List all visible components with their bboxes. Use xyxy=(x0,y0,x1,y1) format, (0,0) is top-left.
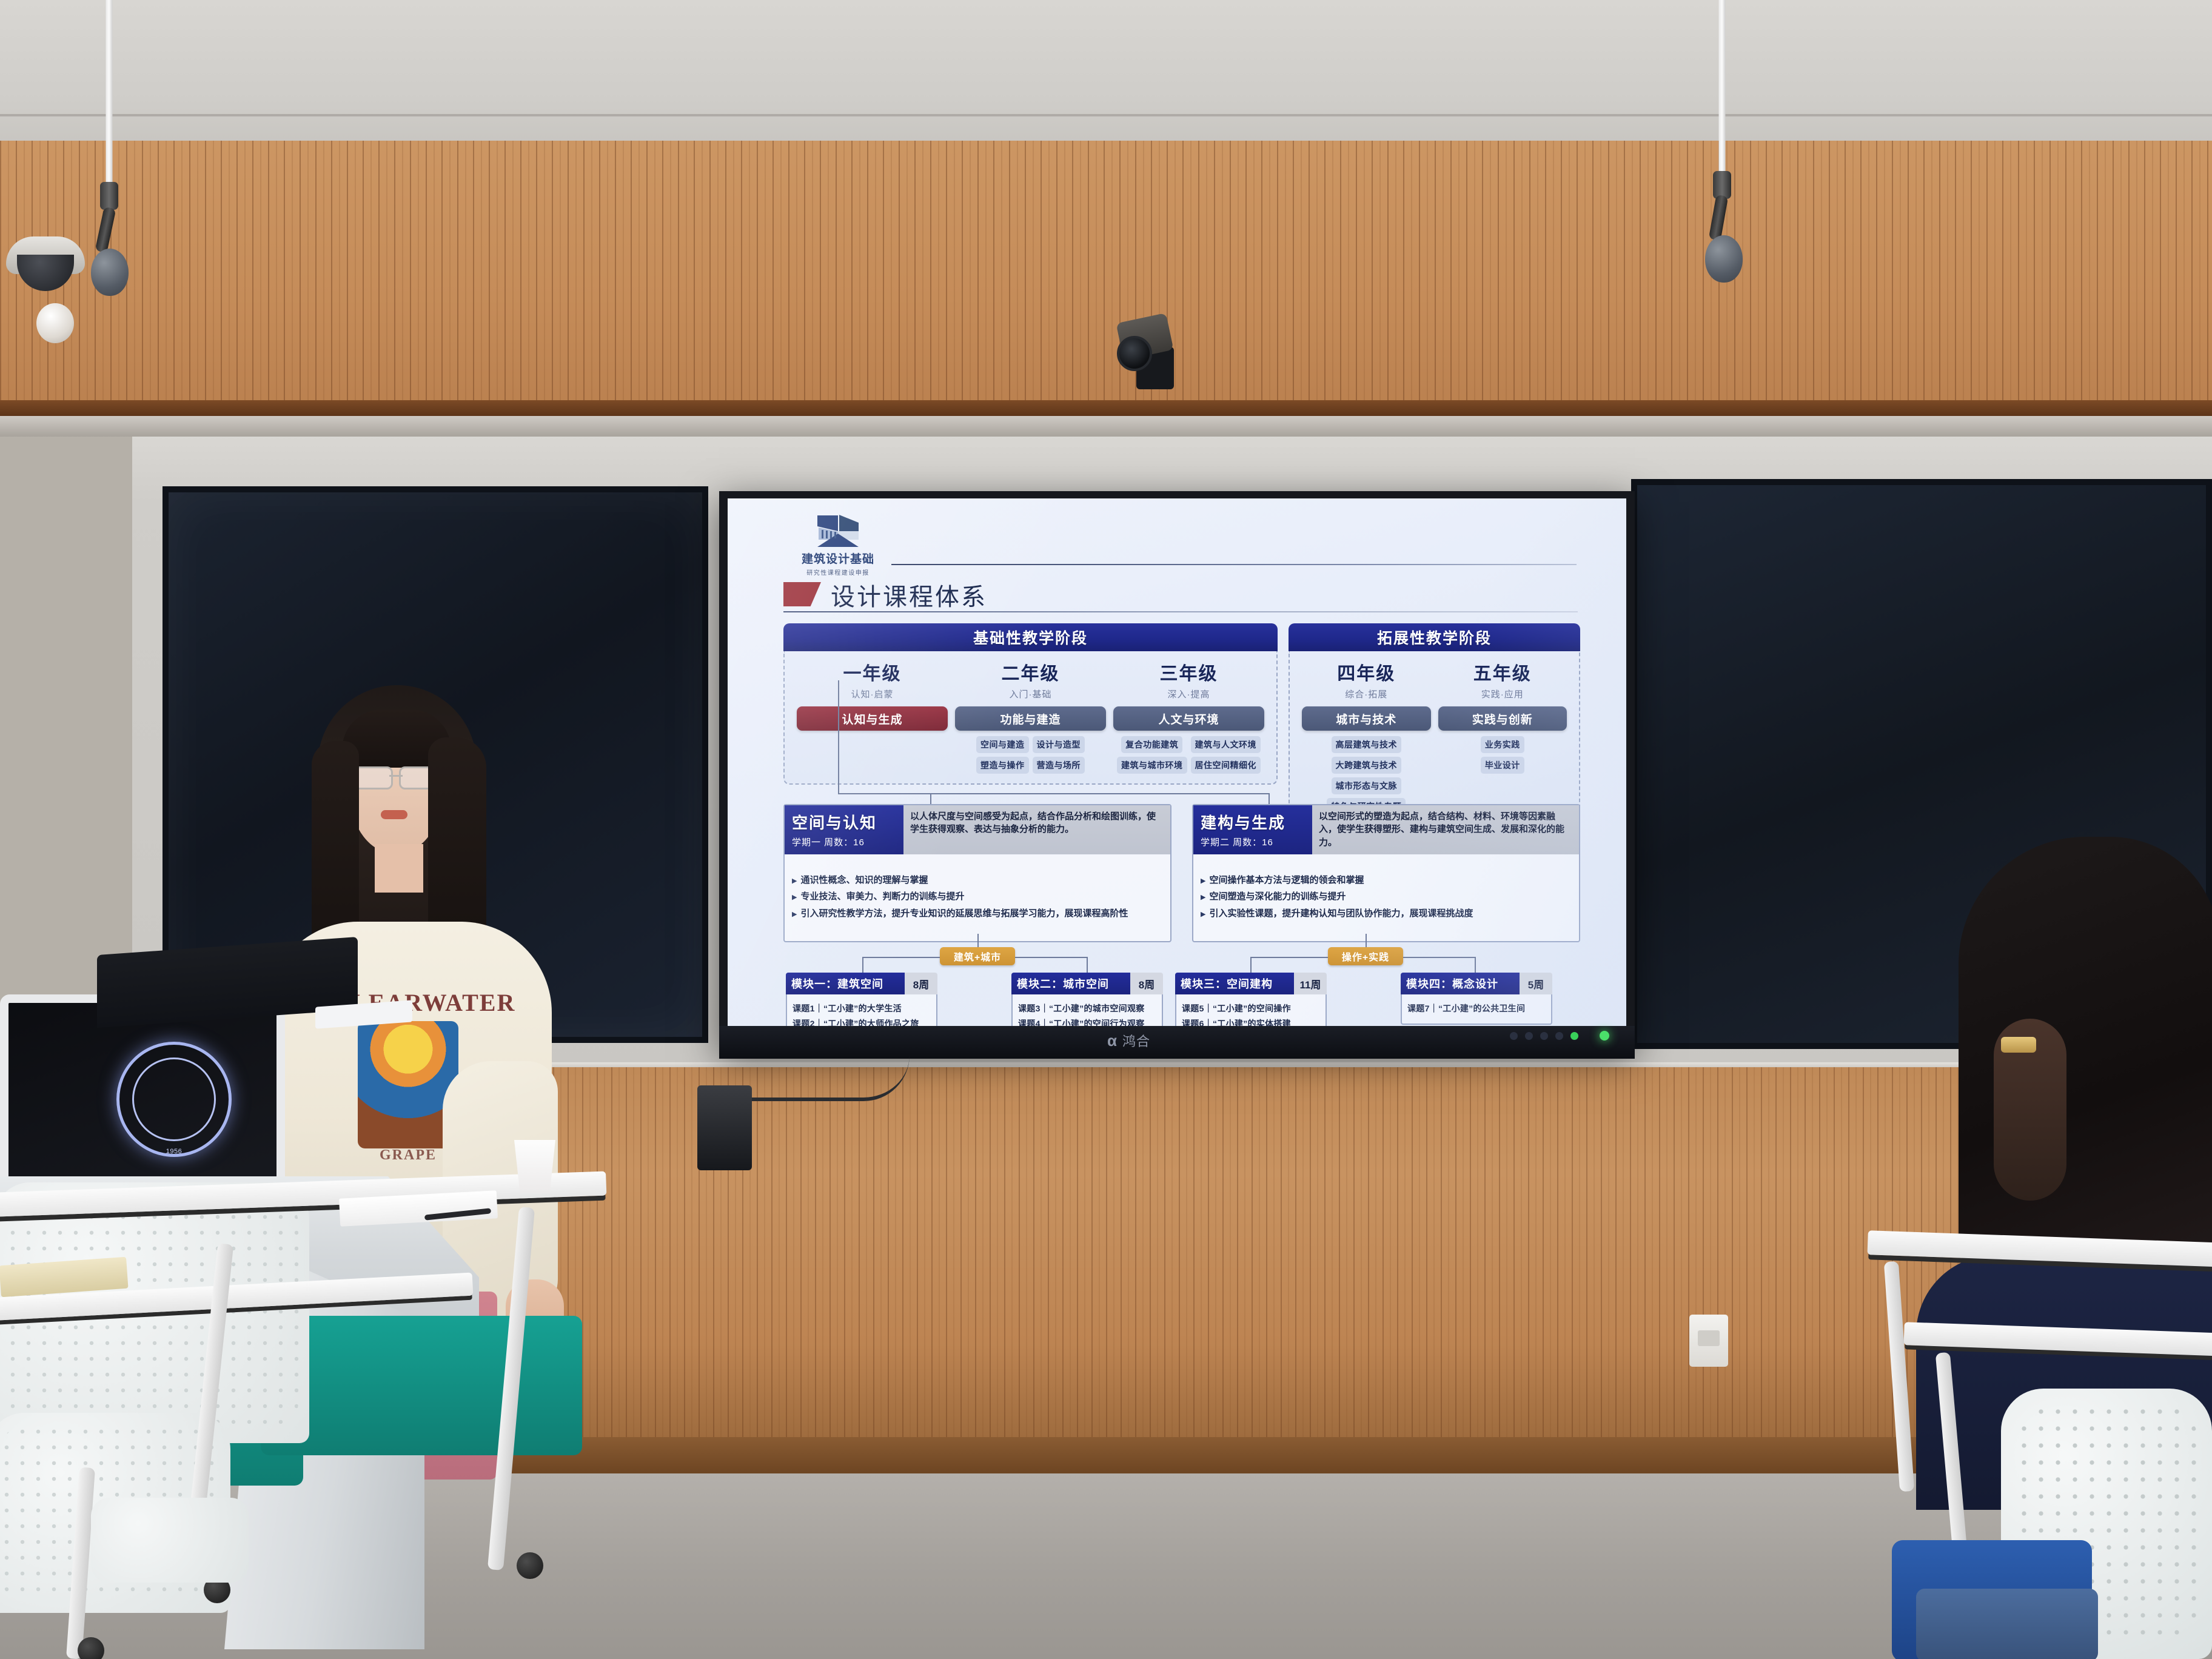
connector-line xyxy=(1366,934,1367,947)
grade-name: 五年级 xyxy=(1435,659,1571,685)
page-title: 设计课程体系 xyxy=(831,577,987,612)
module-weeks: 11周 xyxy=(1294,973,1327,994)
course-chips-y3: 复合功能建筑 建筑与城市环境 建筑与人文环境 居住空间精细化 xyxy=(1110,736,1268,774)
course-chips-y5: 业务实践 毕业设计 xyxy=(1435,736,1571,774)
grade-column-y3: 三年级 深入·提高 人文与环境 复合功能建筑 建筑与城市环境 建筑与人文环境 xyxy=(1110,659,1268,774)
grade-column-y1: 一年级 认知·启蒙 认知与生成 xyxy=(793,659,951,774)
course-chip[interactable]: 复合功能建筑 xyxy=(1121,736,1182,753)
wall-shadow-band xyxy=(0,400,2212,416)
connector-line xyxy=(838,793,1270,794)
grade-name: 一年级 xyxy=(793,659,951,685)
semester-card-1: 空间与认知 学期一 周数：16 以人体尺度与空间感受为起点，结合作品分析和绘图训… xyxy=(783,804,1171,942)
power-led-indicator xyxy=(1600,1031,1609,1041)
grade-subtitle: 认知·启蒙 xyxy=(793,688,951,700)
grade-subtitle: 深入·提高 xyxy=(1110,688,1268,700)
connector-line xyxy=(1015,957,1087,958)
slide-title-row: 设计课程体系 xyxy=(783,576,1578,614)
semester-card-2: 建构与生成 学期二 周数：16 以空间形式的塑造为起点，结合结构、材料、环境等因… xyxy=(1192,804,1580,942)
course-chip[interactable]: 设计与造型 xyxy=(1033,736,1085,753)
bridge-tag-2: 操作+实践 xyxy=(1328,947,1403,965)
connector-line xyxy=(1269,793,1270,805)
phase-advanced-header: 拓展性教学阶段 xyxy=(1289,623,1580,651)
module-card-2[interactable]: 模块二：城市空间 8周 课题3｜“工小建”的城市空间观察 课题4｜“工小建”的空… xyxy=(1011,973,1163,1027)
display-button-row[interactable] xyxy=(1510,1032,1578,1040)
module-topic: 课题5｜“工小建”的空间操作 xyxy=(1182,1002,1320,1014)
course-chip[interactable]: 居住空间精细化 xyxy=(1191,757,1261,774)
phase-basic-header: 基础性教学阶段 xyxy=(783,623,1278,651)
phase-advanced: 拓展性教学阶段 四年级 综合·拓展 城市与技术 高层建筑与技术 大跨建筑与技术 xyxy=(1289,623,1580,826)
course-chip[interactable]: 营造与场所 xyxy=(1033,757,1085,774)
module-card-1[interactable]: 模块一：建筑空间 8周 课题1｜“工小建”的大学生活 课题2｜“工小建”的大师作… xyxy=(786,973,937,1027)
desk-caster xyxy=(78,1637,104,1659)
semester-badge-1: 空间与认知 学期一 周数：16 xyxy=(785,805,903,854)
grade-pill-y4[interactable]: 城市与技术 xyxy=(1302,706,1431,731)
grade-name: 四年级 xyxy=(1298,659,1435,685)
chair-seat[interactable] xyxy=(91,1498,249,1583)
module-card-3[interactable]: 模块三：空间建构 11周 课题5｜“工小建”的空间操作 课题6｜“工小建”的实体… xyxy=(1175,973,1327,1027)
course-chip[interactable]: 毕业设计 xyxy=(1481,757,1524,774)
board-ledge-top xyxy=(0,416,2212,437)
ceiling-mic-left xyxy=(73,0,146,388)
bullet-item: 空间操作基本方法与逻辑的领会和掌握 xyxy=(1201,874,1572,886)
building-logo-icon xyxy=(815,513,861,548)
connector-line xyxy=(977,934,979,947)
hair-clip xyxy=(2001,1037,2036,1053)
paper-cup xyxy=(514,1140,555,1193)
course-chip[interactable]: 空间与建造 xyxy=(976,736,1029,753)
grade-column-y4: 四年级 综合·拓展 城市与技术 高层建筑与技术 大跨建筑与技术 城市形态与文脉 xyxy=(1298,659,1435,815)
semester-description: 以空间形式的塑造为起点，结合结构、材料、环境等因素融入，使学生获得塑形、建构与建… xyxy=(1312,805,1579,854)
logo-subtitle: 研究性课程建设申报 xyxy=(783,568,893,577)
connector-line xyxy=(862,957,940,958)
bullet-item: 引入研究性教学方法，提升专业知识的延展思维与拓展学习能力，展现课程高阶性 xyxy=(792,908,1163,920)
title-underline xyxy=(783,611,1578,612)
course-chips-y4: 高层建筑与技术 大跨建筑与技术 城市形态与文脉 特色与研究性专题 xyxy=(1298,736,1435,815)
grade-name: 三年级 xyxy=(1110,659,1268,685)
semester-meta: 学期一 周数：16 xyxy=(792,836,896,848)
course-chip[interactable]: 城市形态与文脉 xyxy=(1332,777,1402,794)
bullet-item: 通识性概念、知识的理解与掌握 xyxy=(792,874,1163,886)
presentation-slide: 建筑设计基础 研究性课程建设申报 设计课程体系 基础性教学阶段 一年级 认知·启… xyxy=(728,498,1626,1027)
connector-line xyxy=(1087,957,1088,973)
module-weeks: 8周 xyxy=(905,973,937,994)
semester-title: 空间与认知 xyxy=(792,811,896,833)
floor-junction-box xyxy=(697,1085,752,1170)
module-card-4[interactable]: 模块四：概念设计 5周 课题7｜“工小建”的公共卫生间 xyxy=(1401,973,1552,1025)
semester-description: 以人体尺度与空间感受为起点，结合作品分析和绘图训练，使学生获得观察、表达与抽象分… xyxy=(903,805,1170,854)
grade-column-y5: 五年级 实践·应用 实践与创新 业务实践 毕业设计 xyxy=(1435,659,1571,815)
ceiling-light-bulb xyxy=(36,303,74,343)
connector-line xyxy=(838,680,839,793)
grade-subtitle: 实践·应用 xyxy=(1435,688,1571,700)
course-chip[interactable]: 高层建筑与技术 xyxy=(1332,736,1402,753)
brand-name: 鸿合 xyxy=(1122,1031,1150,1050)
connector-line xyxy=(1403,957,1475,958)
semester-bullets-2: 空间操作基本方法与逻辑的领会和掌握 空间塑造与深化能力的训练与提升 引入实验性课… xyxy=(1193,864,1579,931)
desk-caster xyxy=(517,1552,543,1579)
title-flag-icon xyxy=(783,582,821,606)
module-topic: 课题7｜“工小建”的公共卫生间 xyxy=(1407,1002,1546,1014)
bullet-item: 专业技法、审美力、判断力的训练与提升 xyxy=(792,891,1163,903)
module-weeks: 8周 xyxy=(1130,973,1163,994)
logo-title: 建筑设计基础 xyxy=(783,550,893,566)
grade-column-y2: 二年级 入门·基础 功能与建造 空间与建造 塑造与操作 设计与造型 xyxy=(951,659,1110,774)
course-chips-y2: 空间与建造 塑造与操作 设计与造型 营造与场所 xyxy=(951,736,1110,774)
glasses-icon xyxy=(352,766,440,787)
semester-badge-2: 建构与生成 学期二 周数：16 xyxy=(1193,805,1312,854)
bullet-item: 引入实验性课题，提升建构认知与团队协作能力，展现课程挑战度 xyxy=(1201,908,1572,920)
slide-logo: 建筑设计基础 研究性课程建设申报 xyxy=(783,513,893,577)
grade-name: 二年级 xyxy=(951,659,1110,685)
classroom-scene: 建筑设计基础 研究性课程建设申报 设计课程体系 基础性教学阶段 一年级 认知·启… xyxy=(0,0,2212,1659)
grade-pill-y3[interactable]: 人文与环境 xyxy=(1113,706,1264,731)
emblem-year: 1956 xyxy=(166,1148,182,1155)
bullet-item: 空间塑造与深化能力的训练与提升 xyxy=(1201,891,1572,903)
header-divider xyxy=(891,564,1577,565)
connector-line xyxy=(862,957,863,973)
course-chip[interactable]: 大跨建筑与技术 xyxy=(1332,757,1402,774)
connector-line xyxy=(1250,957,1252,973)
semester-title: 建构与生成 xyxy=(1201,811,1305,833)
brand-mark-icon: α xyxy=(1107,1031,1118,1050)
module-weeks: 5周 xyxy=(1520,973,1552,994)
university-emblem: 1956 xyxy=(116,1042,232,1157)
semester-meta: 学期二 周数：16 xyxy=(1201,836,1305,848)
phase-panels: 基础性教学阶段 一年级 认知·启蒙 认知与生成 二年级 入门·基础 功能与建造 xyxy=(783,623,1580,826)
grade-subtitle: 入门·基础 xyxy=(951,688,1110,700)
course-chip[interactable]: 建筑与人文环境 xyxy=(1191,736,1261,753)
phase-basic: 基础性教学阶段 一年级 认知·启蒙 认知与生成 二年级 入门·基础 功能与建造 xyxy=(783,623,1278,826)
grade-pill-y1[interactable]: 认知与生成 xyxy=(797,706,948,731)
course-chip[interactable]: 建筑与城市环境 xyxy=(1117,757,1187,774)
grade-pill-y5[interactable]: 实践与创新 xyxy=(1438,706,1567,731)
wall-outlet xyxy=(1689,1315,1728,1367)
bridge-tag-1: 建筑+城市 xyxy=(940,947,1015,965)
module-topic: 课题1｜“工小建”的大学生活 xyxy=(793,1002,931,1014)
course-chip[interactable]: 业务实践 xyxy=(1481,736,1524,753)
module-title: 模块四：概念设计 xyxy=(1401,973,1520,994)
semester-bullets-1: 通识性概念、知识的理解与掌握 专业技法、审美力、判断力的训练与提升 引入研究性教… xyxy=(785,864,1170,931)
connector-line xyxy=(930,793,931,805)
module-title: 模块一：建筑空间 xyxy=(786,973,905,994)
connector-line xyxy=(1475,957,1476,973)
ceiling-mic-right xyxy=(1686,0,1758,364)
display-brand-label: α 鸿合 xyxy=(1107,1031,1253,1050)
module-title: 模块二：城市空间 xyxy=(1011,973,1130,994)
attendee-legs xyxy=(1916,1589,2098,1659)
wall-camera xyxy=(1116,309,1195,394)
grade-subtitle: 综合·拓展 xyxy=(1298,688,1435,700)
grade-pill-y2[interactable]: 功能与建造 xyxy=(955,706,1106,731)
module-title: 模块三：空间建构 xyxy=(1175,973,1294,994)
semester-cards: 空间与认知 学期一 周数：16 以人体尺度与空间感受为起点，结合作品分析和绘图训… xyxy=(783,804,1580,942)
connector-line xyxy=(1250,957,1328,958)
module-topic: 课题3｜“工小建”的城市空间观察 xyxy=(1018,1002,1156,1014)
course-chip[interactable]: 塑造与操作 xyxy=(976,757,1029,774)
